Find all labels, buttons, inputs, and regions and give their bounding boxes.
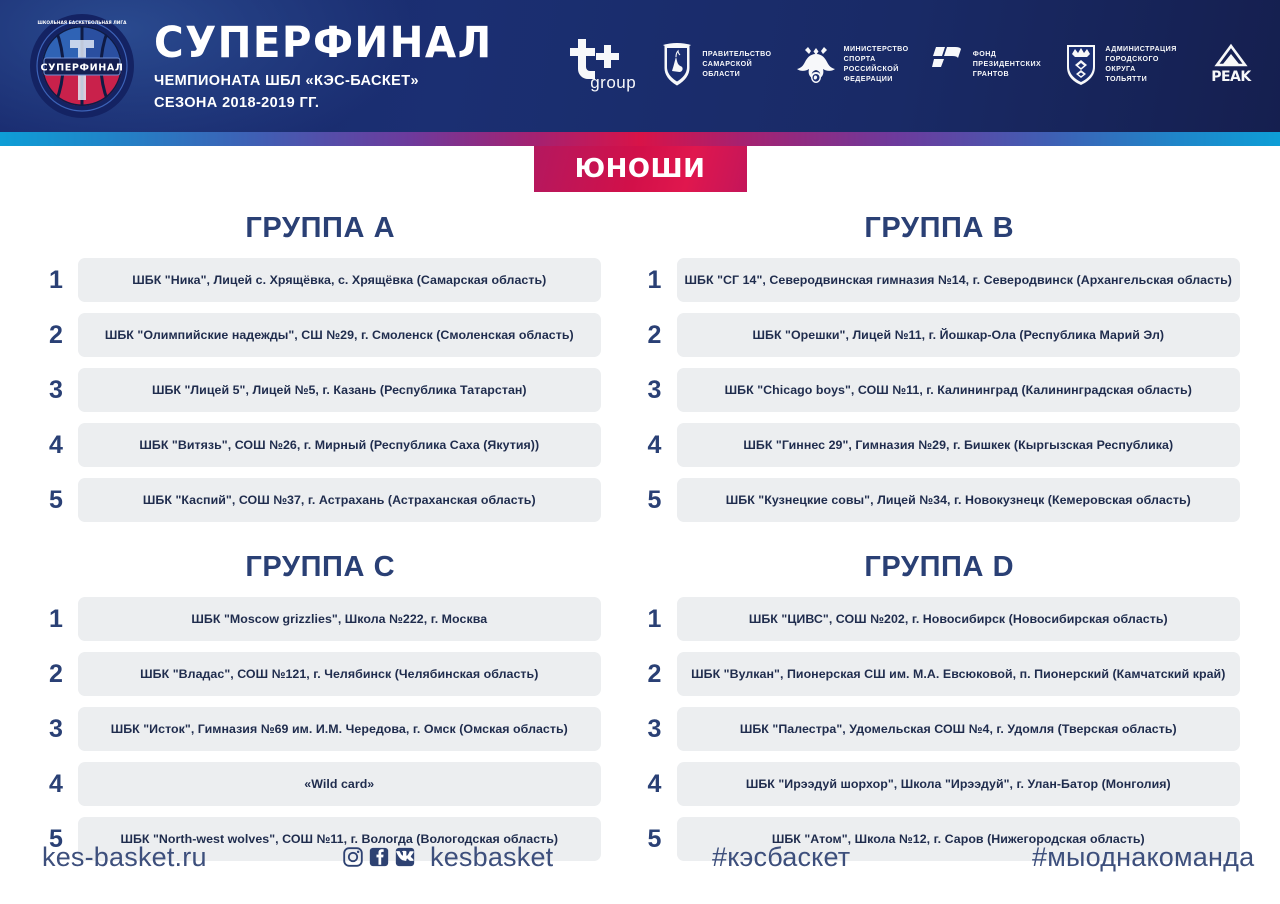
team-name: ШБК "ЦИВС", СОШ №202, г. Новосибирск (Но… [749,612,1168,626]
team-name: ШБК "Chicago boys", СОШ №11, г. Калининг… [725,383,1192,397]
team-name: ШБК "Каспий", СОШ №37, г. Астрахань (Аст… [143,493,536,507]
group-b-title: ГРУППА B [639,212,1240,245]
team-name: ШБК "Владас", СОШ №121, г. Челябинск (Че… [140,667,538,681]
team-name: ШБК "Витязь", СОШ №26, г. Мирный (Респуб… [139,438,539,452]
table-row: 4 «Wild card» [40,762,601,806]
team-pill: ШБК "Владас", СОШ №121, г. Челябинск (Че… [78,652,601,696]
svg-text:СУПЕРФИНАЛ: СУПЕРФИНАЛ [40,63,123,74]
table-row: 3 ШБК "Chicago boys", СОШ №11, г. Калини… [639,368,1240,412]
sponsor-strip: group ПРАВИТЕЛЬСТВО САМАРСКОЙ ОБЛАСТИ [558,35,1262,97]
title-block: СУПЕРФИНАЛ ЧЕМПИОНАТА ШБЛ «КЭС-БАСКЕТ» С… [154,19,514,113]
table-row: 2 ШБК "Вулкан", Пионерская СШ им. М.А. Е… [639,652,1240,696]
rank-number: 4 [639,433,677,458]
accent-gradient-strip [0,132,1280,146]
peak-logo-icon: PEAK [1200,41,1262,87]
sponsor-tolyatti-administration: АДМИНИСТРАЦИЯ ГОРОДСКОГО ОКРУГА ТОЛЬЯТТИ [1064,41,1176,87]
sponsor-t-plus-group-label: group [590,73,636,93]
team-pill: ШБК "Орешки", Лицей №11, г. Йошкар-Ола (… [677,313,1240,357]
rank-number: 5 [639,488,677,513]
table-row: 1 ШБК "Moscow grizzlies", Школа №222, г.… [40,597,601,641]
table-row: 3 ШБК "Палестра", Удомельская СОШ №4, г.… [639,707,1240,751]
rank-number: 5 [40,488,78,513]
team-pill: ШБК "СГ 14", Северодвинская гимназия №14… [677,258,1240,302]
presidential-grants-flag-icon [932,43,966,85]
website-link[interactable]: kes-basket.ru [42,842,342,873]
sponsor-ministry-of-sport: МИНИСТЕРСТВО СПОРТА РОССИЙСКОЙ ФЕДЕРАЦИИ [795,41,909,87]
team-pill: ШБК "Каспий", СОШ №37, г. Астрахань (Аст… [78,478,601,522]
category-banner-wrap: ЮНОШИ [0,146,1280,202]
team-name: «Wild card» [304,777,374,791]
table-row: 1 ШБК "Ника", Лицей с. Хрящёвка, с. Хрящ… [40,258,601,302]
team-name: ШБК "Исток", Гимназия №69 им. И.М. Черед… [111,722,568,736]
svg-text:PEAK: PEAK [1211,69,1252,85]
rank-number: 3 [40,378,78,403]
rank-number: 1 [40,268,78,293]
team-name: ШБК "Ирээдуй шорхор", Школа "Ирээдуй", г… [746,777,1171,791]
social-block: kesbasket [342,842,712,873]
team-pill: «Wild card» [78,762,601,806]
rank-number: 2 [639,662,677,687]
footer: kes-basket.ru kesbasket #кэсбаске [0,818,1280,904]
rank-number: 2 [40,323,78,348]
poster-subtitle-line1: ЧЕМПИОНАТА ШБЛ «КЭС-БАСКЕТ» [154,71,514,92]
facebook-icon[interactable] [368,846,390,868]
team-pill: ШБК "Кузнецкие совы", Лицей №34, г. Ново… [677,478,1240,522]
sponsor-t-plus-group: group [564,35,636,93]
table-row: 2 ШБК "Владас", СОШ №121, г. Челябинск (… [40,652,601,696]
rank-number: 2 [639,323,677,348]
table-row: 2 ШБК "Олимпийские надежды", СШ №29, г. … [40,313,601,357]
team-name: ШБК "Лицей 5", Лицей №5, г. Казань (Респ… [152,383,527,397]
team-pill: ШБК "Вулкан", Пионерская СШ им. М.А. Евс… [677,652,1240,696]
header: СУПЕРФИНАЛ ШКОЛЬНАЯ БАСКЕТБОЛЬНАЯ ЛИГА С… [0,0,1280,132]
vk-icon[interactable] [394,846,416,868]
table-row: 2 ШБК "Орешки", Лицей №11, г. Йошкар-Ола… [639,313,1240,357]
rank-number: 1 [639,268,677,293]
rank-number: 4 [40,772,78,797]
group-d-title: ГРУППА D [639,551,1240,584]
hashtag-kesbasket[interactable]: #кэсбаскет [712,842,1032,873]
group-a-title: ГРУППА A [40,212,601,245]
team-pill: ШБК "Исток", Гимназия №69 им. И.М. Черед… [78,707,601,751]
samara-coat-of-arms-icon [659,41,695,87]
svg-text:ШКОЛЬНАЯ БАСКЕТБОЛЬНАЯ ЛИГА: ШКОЛЬНАЯ БАСКЕТБОЛЬНАЯ ЛИГА [38,20,128,26]
rank-number: 2 [40,662,78,687]
table-row: 1 ШБК "ЦИВС", СОШ №202, г. Новосибирск (… [639,597,1240,641]
table-row: 3 ШБК "Исток", Гимназия №69 им. И.М. Чер… [40,707,601,751]
sponsor-tolyatti-administration-label: АДМИНИСТРАЦИЯ ГОРОДСКОГО ОКРУГА ТОЛЬЯТТИ [1105,44,1176,84]
team-pill: ШБК "Палестра", Удомельская СОШ №4, г. У… [677,707,1240,751]
table-row: 4 ШБК "Витязь", СОШ №26, г. Мирный (Респ… [40,423,601,467]
hashtag-myodnakomanda[interactable]: #мыоднакоманда [1032,842,1254,873]
rank-number: 4 [639,772,677,797]
social-icon-group [342,846,416,868]
team-name: ШБК "Палестра", Удомельская СОШ №4, г. У… [740,722,1177,736]
sponsor-samara-government: ПРАВИТЕЛЬСТВО САМАРСКОЙ ОБЛАСТИ [659,41,771,87]
team-name: ШБК "Гиннес 29", Гимназия №29, г. Бишкек… [743,438,1173,452]
groups-grid: ГРУППА A 1 ШБК "Ника", Лицей с. Хрящёвка… [0,202,1280,872]
category-banner-label: ЮНОШИ [575,154,706,184]
team-pill: ШБК "Ирээдуй шорхор", Школа "Ирээдуй", г… [677,762,1240,806]
team-name: ШБК "Орешки", Лицей №11, г. Йошкар-Ола (… [753,328,1165,342]
tolyatti-coat-of-arms-icon [1064,41,1098,87]
team-name: ШБК "Олимпийские надежды", СШ №29, г. См… [105,328,574,342]
table-row: 3 ШБК "Лицей 5", Лицей №5, г. Казань (Ре… [40,368,601,412]
table-row: 5 ШБК "Каспий", СОШ №37, г. Астрахань (А… [40,478,601,522]
group-a: ГРУППА A 1 ШБК "Ника", Лицей с. Хрящёвка… [40,212,601,533]
team-pill: ШБК "Chicago boys", СОШ №11, г. Калининг… [677,368,1240,412]
team-pill: ШБК "Витязь", СОШ №26, г. Мирный (Респуб… [78,423,601,467]
social-handle[interactable]: kesbasket [430,842,553,873]
rank-number: 3 [639,717,677,742]
team-pill: ШБК "Moscow grizzlies", Школа №222, г. М… [78,597,601,641]
category-banner: ЮНОШИ [534,146,747,192]
superfinal-emblem-logo: СУПЕРФИНАЛ ШКОЛЬНАЯ БАСКЕТБОЛЬНАЯ ЛИГА [26,10,138,122]
sponsor-presidential-grants-fund: ФОНД ПРЕЗИДЕНТСКИХ ГРАНТОВ [932,43,1041,85]
sponsor-samara-government-label: ПРАВИТЕЛЬСТВО САМАРСКОЙ ОБЛАСТИ [702,49,771,79]
group-b: ГРУППА B 1 ШБК "СГ 14", Северодвинская г… [639,212,1240,533]
rank-number: 1 [40,607,78,632]
sponsor-peak: PEAK [1200,41,1262,87]
group-c-title: ГРУППА C [40,551,601,584]
team-name: ШБК "Кузнецкие совы", Лицей №34, г. Ново… [726,493,1191,507]
team-pill: ШБК "Ника", Лицей с. Хрящёвка, с. Хрящёв… [78,258,601,302]
team-name: ШБК "Ника", Лицей с. Хрящёвка, с. Хрящёв… [132,273,546,287]
rank-number: 3 [639,378,677,403]
team-pill: ШБК "Олимпийские надежды", СШ №29, г. См… [78,313,601,357]
team-pill: ШБК "Гиннес 29", Гимназия №29, г. Бишкек… [677,423,1240,467]
rank-number: 3 [40,717,78,742]
team-pill: ШБК "Лицей 5", Лицей №5, г. Казань (Респ… [78,368,601,412]
sponsor-presidential-grants-fund-label: ФОНД ПРЕЗИДЕНТСКИХ ГРАНТОВ [973,49,1041,79]
rank-number: 1 [639,607,677,632]
team-name: ШБК "СГ 14", Северодвинская гимназия №14… [685,273,1232,287]
poster-title: СУПЕРФИНАЛ [154,23,493,64]
team-pill: ШБК "ЦИВС", СОШ №202, г. Новосибирск (Но… [677,597,1240,641]
poster-root: СУПЕРФИНАЛ ШКОЛЬНАЯ БАСКЕТБОЛЬНАЯ ЛИГА С… [0,0,1280,904]
team-name: ШБК "Moscow grizzlies", Школа №222, г. М… [191,612,487,626]
team-name: ШБК "Вулкан", Пионерская СШ им. М.А. Евс… [691,667,1225,681]
instagram-icon[interactable] [342,846,364,868]
table-row: 4 ШБК "Гиннес 29", Гимназия №29, г. Бишк… [639,423,1240,467]
poster-subtitle-line2: СЕЗОНА 2018-2019 ГГ. [154,93,514,114]
table-row: 5 ШБК "Кузнецкие совы", Лицей №34, г. Но… [639,478,1240,522]
russian-double-eagle-icon [795,41,837,87]
rank-number: 4 [40,433,78,458]
table-row: 1 ШБК "СГ 14", Северодвинская гимназия №… [639,258,1240,302]
sponsor-ministry-of-sport-label: МИНИСТЕРСТВО СПОРТА РОССИЙСКОЙ ФЕДЕРАЦИИ [844,44,909,84]
table-row: 4 ШБК "Ирээдуй шорхор", Школа "Ирээдуй",… [639,762,1240,806]
